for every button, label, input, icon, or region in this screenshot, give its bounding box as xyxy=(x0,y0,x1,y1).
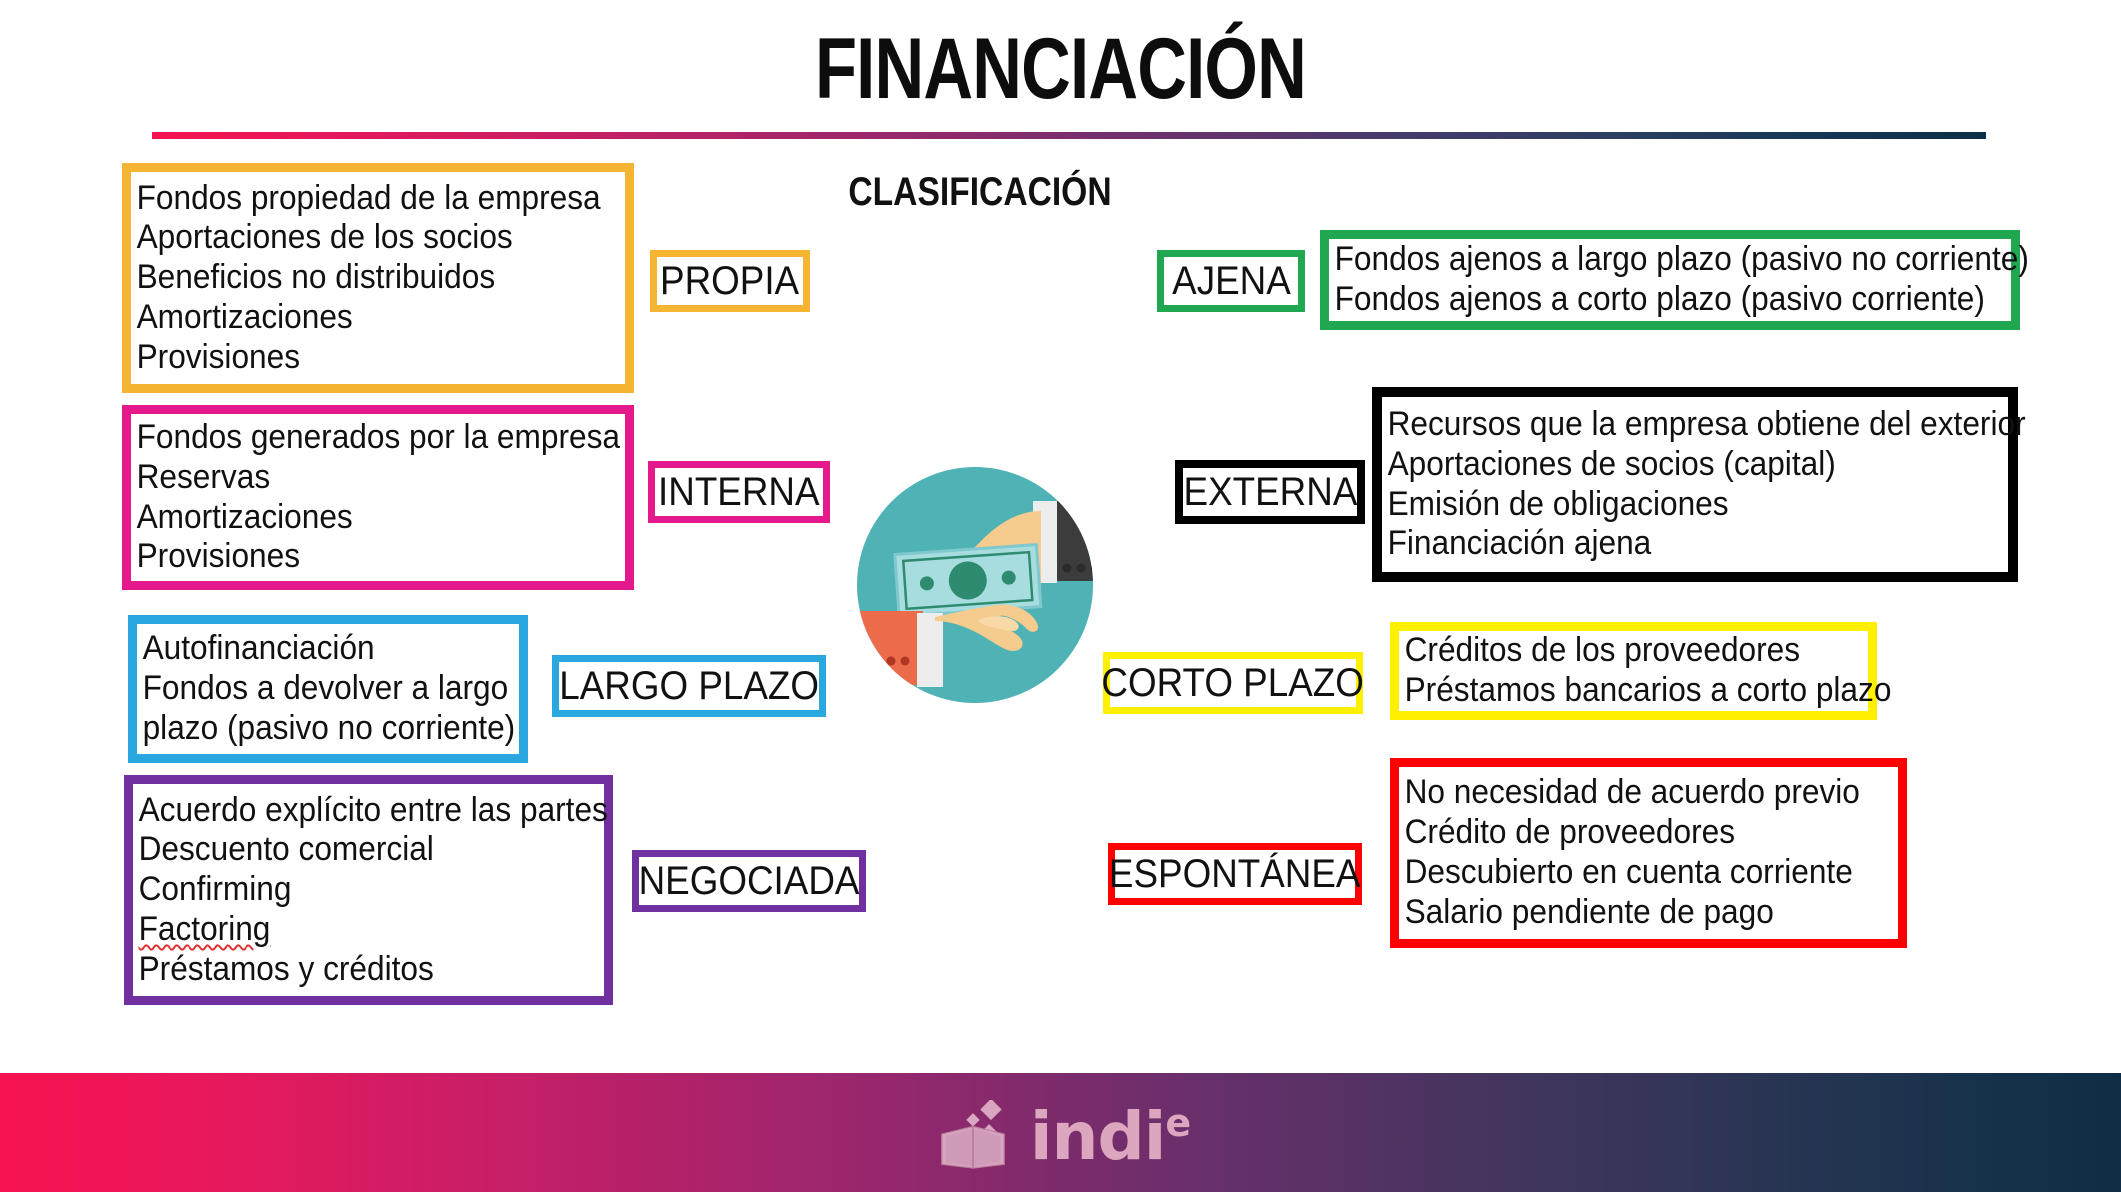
detail-line: Fondos ajenos a corto plazo (pasivo corr… xyxy=(1329,280,1963,320)
detail-line: plazo (pasivo no corriente) xyxy=(137,709,492,749)
detail-line: Confirming xyxy=(133,870,571,910)
label-text: LARGO PLAZO xyxy=(559,666,819,706)
detail-line: Crédito de proveedores xyxy=(1399,813,1863,853)
detail-box-espontanea: No necesidad de acuerdo previo Crédito d… xyxy=(1390,758,1907,948)
label-text: CORTO PLAZO xyxy=(1102,663,1364,703)
detail-line-misspelled: Factoring xyxy=(133,910,571,950)
label-box-espontanea[interactable]: ESPONTÁNEA xyxy=(1108,843,1362,905)
label-text: EXTERNA xyxy=(1183,472,1357,512)
detail-line: Provisiones xyxy=(131,338,590,378)
brand-logo-superscript: e xyxy=(1165,1101,1191,1145)
detail-box-largo-plazo: Autofinanciación Fondos a devolver a lar… xyxy=(128,615,528,763)
detail-line: Préstamos y créditos xyxy=(133,950,571,990)
detail-line: Financiación ajena xyxy=(1382,524,1964,564)
label-box-ajena[interactable]: AJENA xyxy=(1157,250,1305,312)
label-box-negociada[interactable]: NEGOCIADA xyxy=(632,850,866,912)
title-underline-rule xyxy=(152,132,1986,139)
page-title: FINANCIACIÓN xyxy=(212,26,1909,112)
detail-line: Recursos que la empresa obtiene del exte… xyxy=(1382,405,1964,445)
page-subtitle: CLASIFICACIÓN xyxy=(745,170,1215,215)
brand-logo: indie xyxy=(930,1100,1191,1170)
detail-line: Préstamos bancarios a corto plazo xyxy=(1399,671,1835,711)
detail-line: Amortizaciones xyxy=(131,498,590,538)
footer-bar: indie xyxy=(0,1073,2121,1192)
detail-line: Beneficios no distribuidos xyxy=(131,258,590,298)
detail-line: Fondos propiedad de la empresa xyxy=(131,179,590,219)
label-box-interna[interactable]: INTERNA xyxy=(648,461,830,523)
detail-box-corto-plazo: Créditos de los proveedores Préstamos ba… xyxy=(1390,622,1877,720)
hands-exchanging-money-icon xyxy=(855,465,1095,705)
detail-box-propia: Fondos propiedad de la empresa Aportacio… xyxy=(122,163,634,393)
detail-line: Fondos a devolver a largo xyxy=(137,669,492,709)
detail-line: Autofinanciación xyxy=(137,629,492,669)
detail-line: Aportaciones de los socios xyxy=(131,218,590,258)
brand-logo-text: indie xyxy=(1030,1104,1191,1170)
label-text: INTERNA xyxy=(658,472,820,512)
detail-line: Acuerdo explícito entre las partes xyxy=(133,791,571,831)
detail-box-ajena: Fondos ajenos a largo plazo (pasivo no c… xyxy=(1320,230,2020,330)
detail-line: Emisión de obligaciones xyxy=(1382,485,1964,525)
label-box-externa[interactable]: EXTERNA xyxy=(1175,460,1365,524)
brand-logo-word: indi xyxy=(1030,1098,1165,1175)
label-box-largo-plazo[interactable]: LARGO PLAZO xyxy=(552,655,826,717)
detail-line: Reservas xyxy=(131,458,590,498)
detail-line: Salario pendiente de pago xyxy=(1399,893,1863,933)
label-text: AJENA xyxy=(1172,261,1291,301)
detail-box-negociada: Acuerdo explícito entre las partes Descu… xyxy=(124,775,613,1005)
label-box-corto-plazo[interactable]: CORTO PLAZO xyxy=(1103,652,1363,714)
detail-box-interna: Fondos generados por la empresa Reservas… xyxy=(122,405,634,590)
label-box-propia[interactable]: PROPIA xyxy=(650,250,810,312)
detail-line: Fondos ajenos a largo plazo (pasivo no c… xyxy=(1329,240,1963,280)
detail-line: Aportaciones de socios (capital) xyxy=(1382,445,1964,485)
detail-line: Descuento comercial xyxy=(133,830,571,870)
detail-box-externa: Recursos que la empresa obtiene del exte… xyxy=(1372,387,2018,582)
slide-canvas: FINANCIACIÓN CLASIFICACIÓN Fondos propie… xyxy=(0,0,2121,1192)
detail-line: No necesidad de acuerdo previo xyxy=(1399,773,1863,813)
label-text: ESPONTÁNEA xyxy=(1109,854,1361,894)
label-text: NEGOCIADA xyxy=(639,861,860,901)
detail-line: Descubierto en cuenta corriente xyxy=(1399,853,1863,893)
detail-line: Fondos generados por la empresa xyxy=(131,418,590,458)
detail-line: Créditos de los proveedores xyxy=(1399,631,1835,671)
label-text: PROPIA xyxy=(660,261,799,301)
open-book-sparkles-icon xyxy=(930,1100,1016,1170)
detail-line: Provisiones xyxy=(131,537,590,577)
detail-line: Amortizaciones xyxy=(131,298,590,338)
